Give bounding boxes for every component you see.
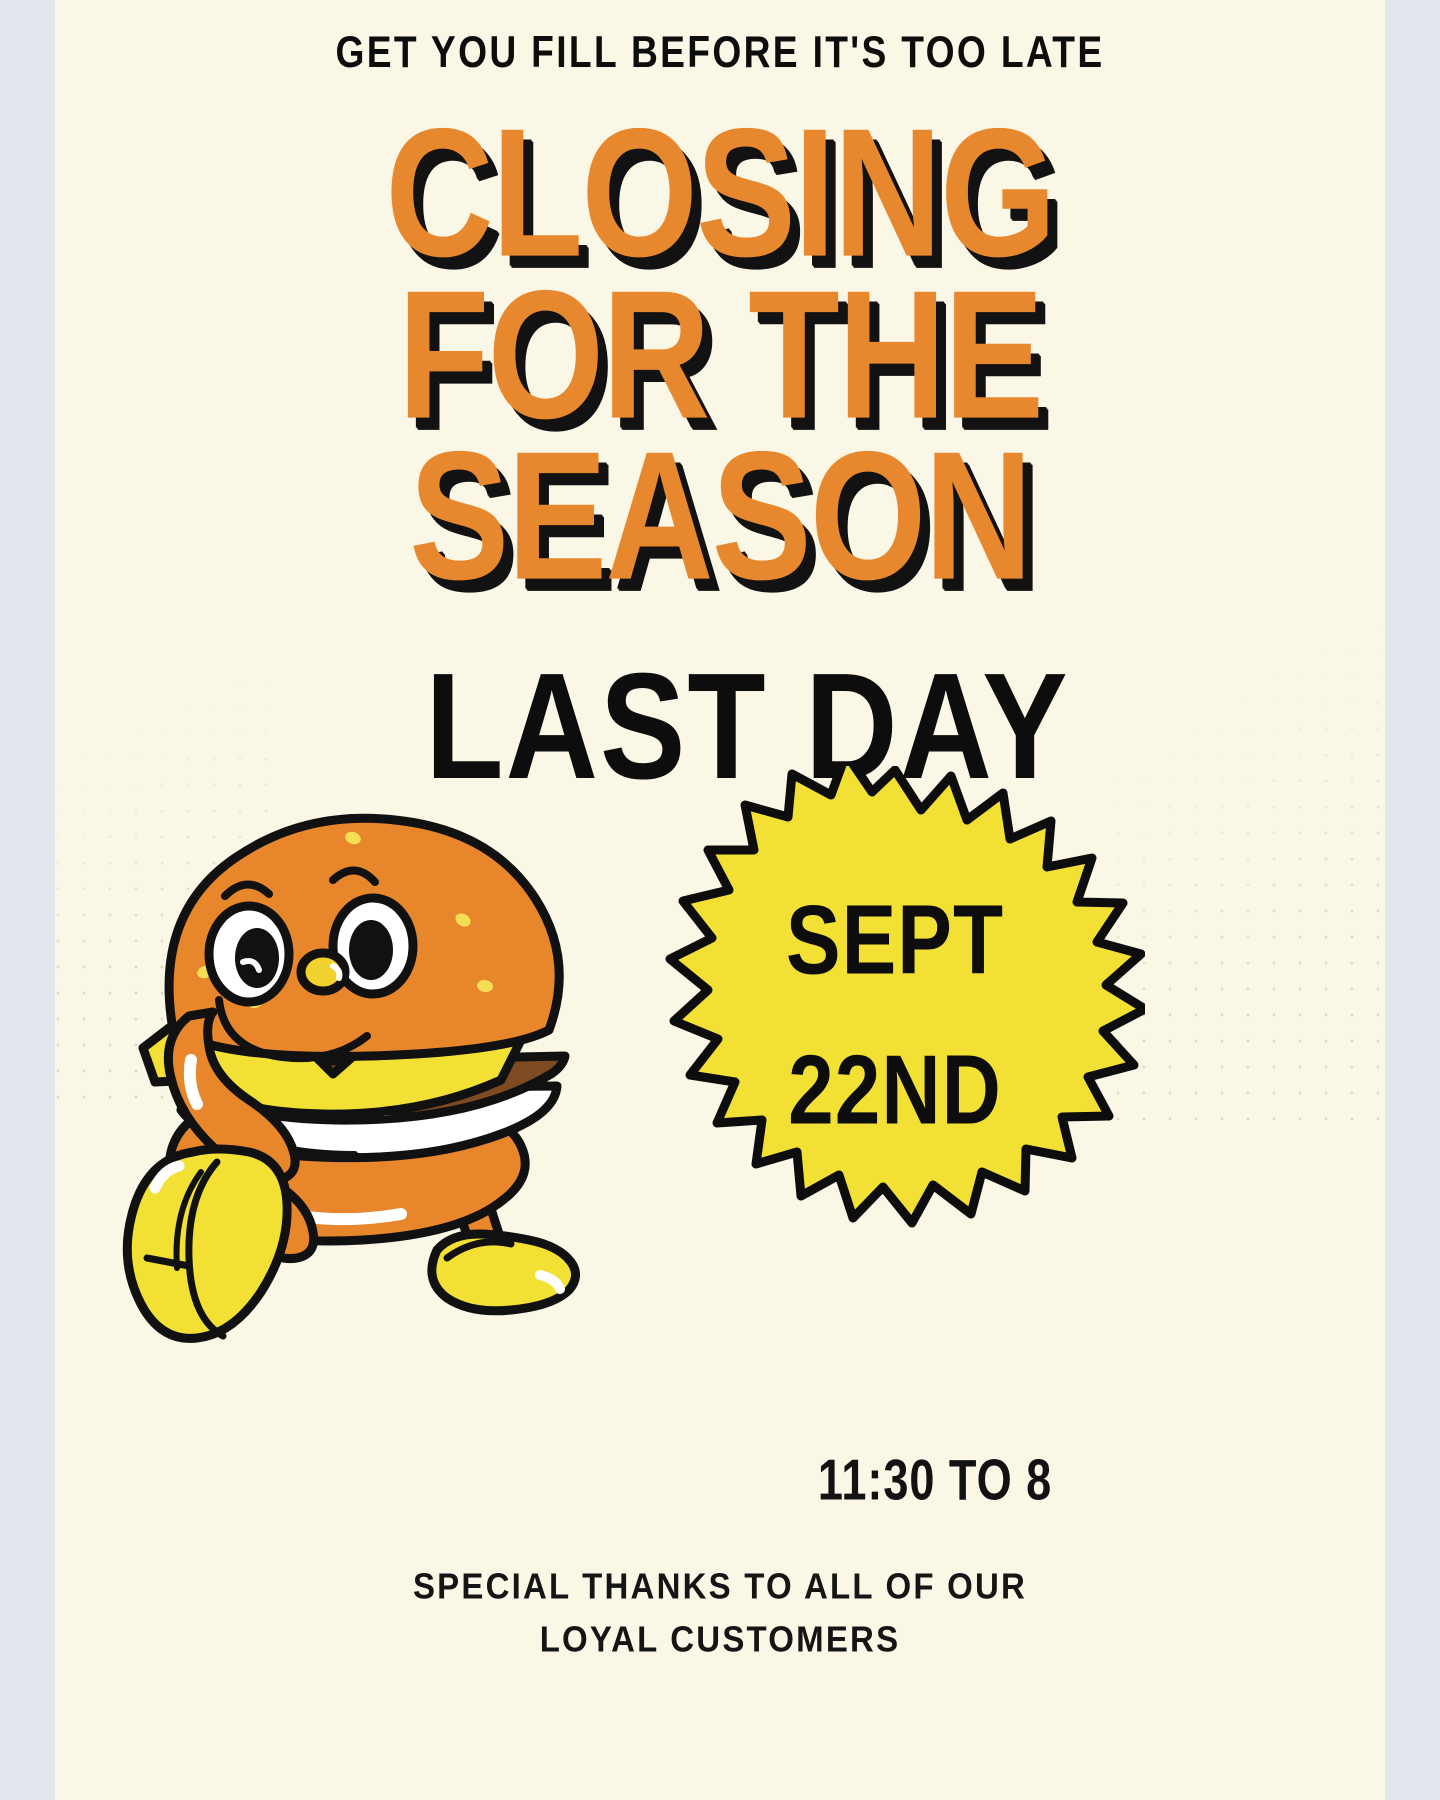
headline-line-3: SEASON bbox=[55, 431, 1385, 601]
poster-canvas: GET YOU FILL BEFORE IT'S TOO LATE CLOSIN… bbox=[55, 0, 1385, 1800]
starburst-icon bbox=[645, 766, 1145, 1266]
hours-text: 11:30 TO 8 bbox=[766, 1448, 1104, 1514]
burger-character-icon bbox=[85, 780, 605, 1340]
kicker-text: GET YOU FILL BEFORE IT'S TOO LATE bbox=[102, 28, 1339, 78]
screenshot-viewport: GET YOU FILL BEFORE IT'S TOO LATE CLOSIN… bbox=[0, 0, 1440, 1800]
date-starburst-badge: SEPT 22ND bbox=[645, 766, 1145, 1266]
thanks-block: SPECIAL THANKS TO ALL OF OUR LOYAL CUSTO… bbox=[55, 1560, 1385, 1665]
thanks-line-1: SPECIAL THANKS TO ALL OF OUR bbox=[55, 1560, 1385, 1613]
thanks-line-2: LOYAL CUSTOMERS bbox=[55, 1613, 1385, 1666]
burger-mascot-illustration bbox=[85, 780, 605, 1340]
headline-block: CLOSING FOR THE SEASON bbox=[55, 108, 1385, 593]
